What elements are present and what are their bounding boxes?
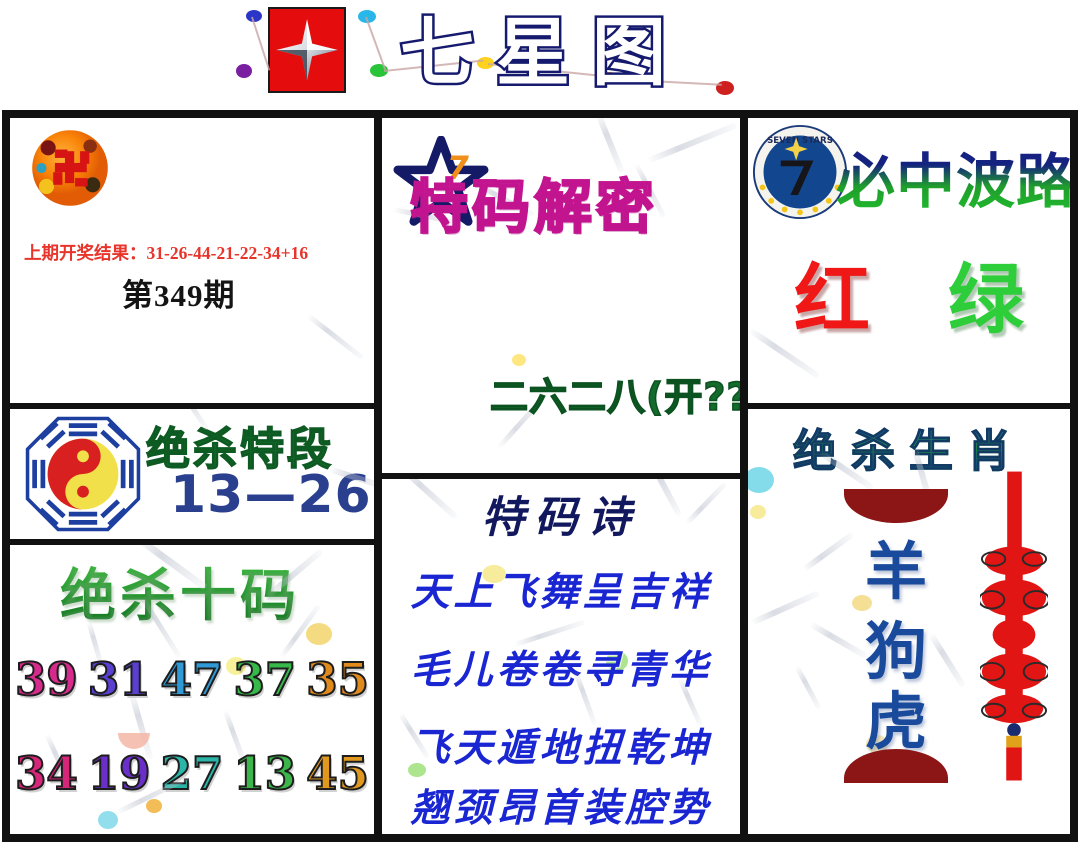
kill-ten-codes-title: 绝杀十码 [60,551,300,632]
kill-segment-range: 13—26 [170,465,372,525]
zodiac-bracket-top [844,489,948,523]
draw-result-text: 上期开奖结果：31-26-44-21-22-34+16 [24,240,308,265]
zodiac-animal: 虎 [844,671,948,761]
kill-code: 19 [88,747,151,800]
kill-code: 34 [15,747,78,800]
panel-kill-ten-codes: 绝杀十码 39 31 47 37 35 34 19 27 [10,545,374,834]
bagua-yinyang-icon [24,415,142,533]
kill-code: 27 [161,747,224,800]
poster-header: 七星图 [0,0,1080,108]
poem-line: 翘颈昂首装腔势 [382,777,740,833]
decor-streak [306,313,364,360]
zodiac-animal: 羊 [844,521,948,611]
orange-swastika-emblem-icon [28,126,112,210]
svg-text:SEVEN STARS: SEVEN STARS [767,136,833,146]
decor-speck [146,799,162,813]
decor-streak [750,590,820,626]
wave-route-title: 必中波路 [836,134,1070,219]
decor-speck [306,623,332,645]
wave-color-green: 绿 [948,238,1024,348]
kill-codes-row: 39 31 47 37 35 [10,653,374,706]
kill-codes-row: 34 19 27 13 45 [10,747,374,800]
seven-stars-badge-icon: SEVEN STARS [752,124,848,220]
panel-kill-segment: 绝杀特段 13—26 [10,409,374,539]
kill-code: 47 [161,653,224,706]
kill-code: 45 [306,747,369,800]
decor-speck [512,354,526,366]
poem-line: 天上飞舞呈吉祥 [382,561,740,617]
kill-code: 13 [233,747,296,800]
chinese-knot-icon [980,467,1048,787]
decor-dot [236,64,252,78]
decor-streak [795,665,822,710]
decode-hint: 二六二八(开??) [490,366,740,421]
wave-color-list: 红 绿 [748,238,1070,348]
poem-title: 特码诗 [382,483,740,545]
poem-line: 毛儿卷卷寻青华 [382,639,740,695]
wave-color-red: 红 [794,238,870,348]
poster-root: 七星图 [0,0,1080,844]
panel-wave-route: SEVEN STARS 必中波路 红 绿 [748,118,1070,403]
kill-code: 35 [306,653,369,706]
kill-code: 39 [15,653,78,706]
draw-issue-number: 第349期 [122,270,236,315]
panel-decode: 7 特码解密 二六二八(开??) [382,118,740,473]
decor-line [365,17,386,70]
kill-code: 31 [88,653,151,706]
panel-draw-result: 上期开奖结果：31-26-44-21-22-34+16 第349期 [10,118,374,403]
red-star-logo-icon [268,7,346,93]
decor-speck [98,811,118,829]
panel-poem: 特码诗 天上飞舞呈吉祥 毛儿卷卷寻青华 飞天遁地扭乾坤 翘颈昂首装腔势 [382,479,740,834]
panel-grid: 上期开奖结果：31-26-44-21-22-34+16 第349期 7 特码解密… [2,110,1078,842]
kill-code: 37 [233,653,296,706]
decode-title: 特码解密 [410,160,658,244]
decor-streak [646,122,737,164]
poem-line: 飞天遁地扭乾坤 [382,717,740,773]
panel-kill-zodiac: 绝杀生肖 羊 狗 虎 [748,409,1070,834]
page-title: 七星图 [400,4,688,102]
decor-speck [750,505,766,519]
